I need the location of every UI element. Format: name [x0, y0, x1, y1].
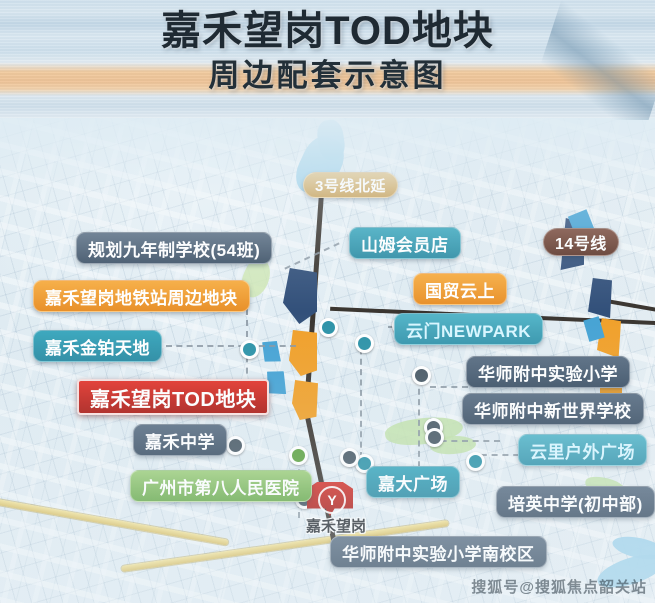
map-area[interactable]: 广清高速 — [0, 118, 655, 603]
poster-canvas: 嘉禾望岗TOD地块 周边配套示意图 广清高速 — [0, 0, 655, 603]
page-title: 嘉禾望岗TOD地块 — [0, 6, 655, 56]
poster-header: 嘉禾望岗TOD地块 周边配套示意图 — [0, 0, 655, 120]
watermark: 搜狐号@搜狐焦点韶关站 — [471, 576, 647, 597]
page-subtitle: 周边配套示意图 — [0, 56, 655, 96]
title-block: 嘉禾望岗TOD地块 周边配套示意图 — [0, 6, 655, 96]
map-haze-overlay — [0, 118, 655, 603]
